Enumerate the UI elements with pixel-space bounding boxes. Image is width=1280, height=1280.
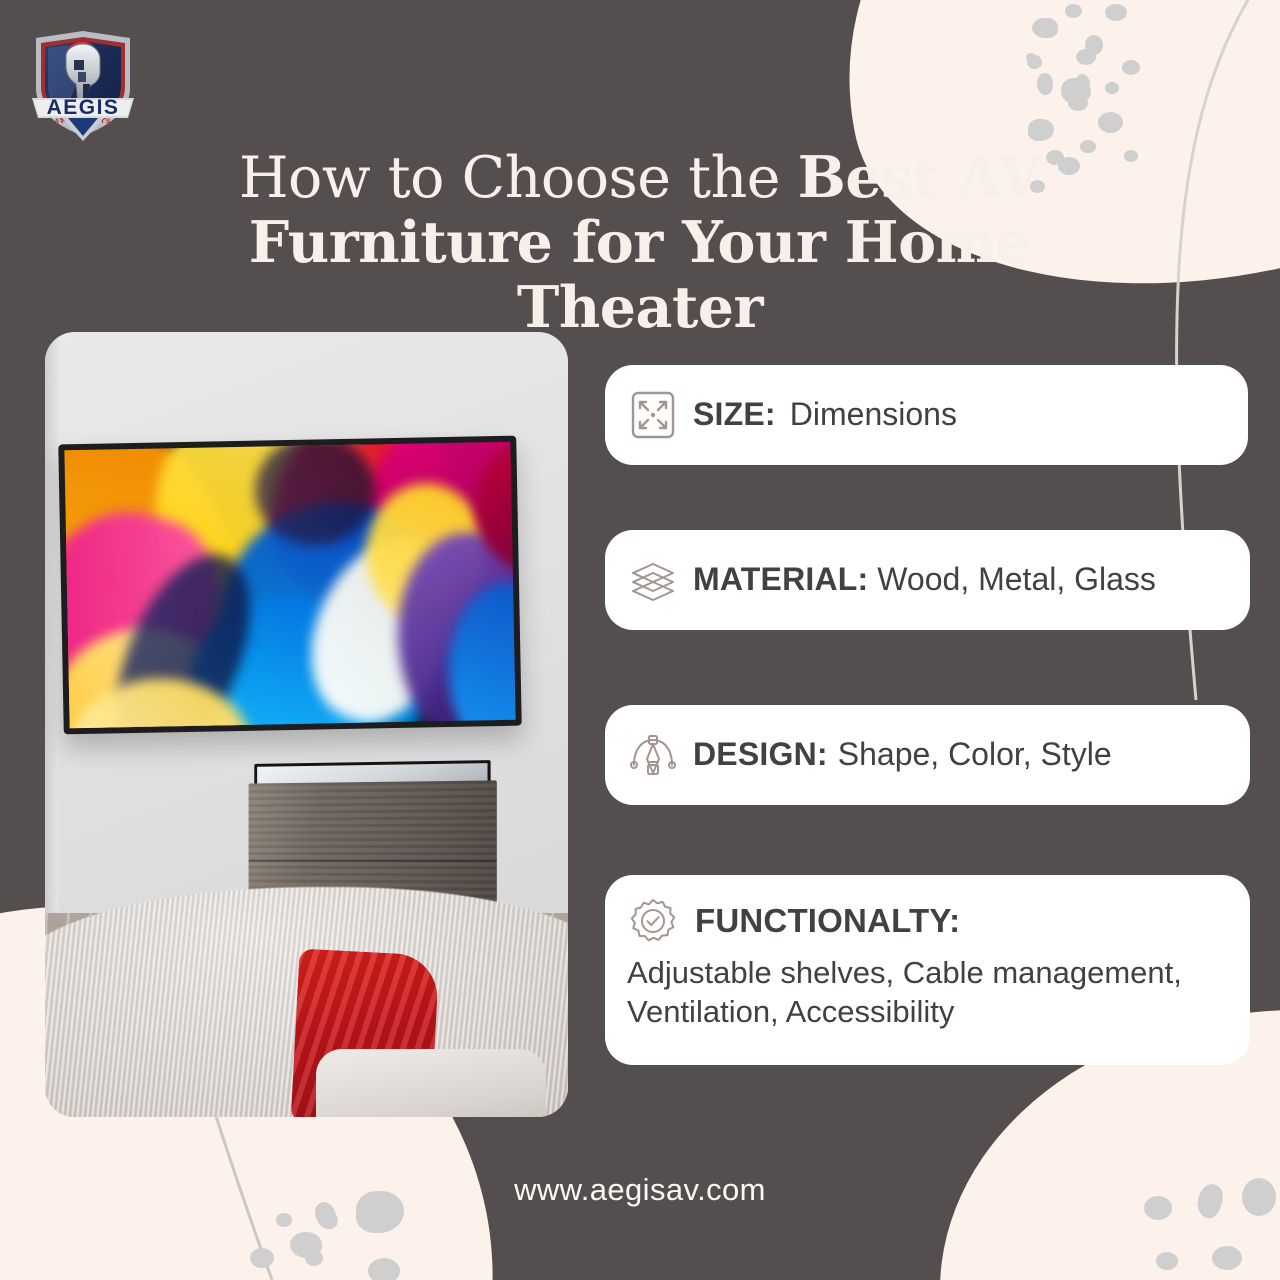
decorative-dot (368, 1258, 400, 1280)
layers-stack-icon (627, 554, 679, 606)
cabinet-drawer-seam (249, 860, 497, 862)
info-card-size[interactable]: SIZE:Dimensions (605, 365, 1248, 465)
decorative-dot (1098, 112, 1123, 133)
gear-check-icon (627, 895, 679, 947)
info-card-material-text: MATERIAL: Wood, Metal, Glass (693, 561, 1156, 599)
decorative-dot (1068, 95, 1088, 111)
decorative-dot (1077, 74, 1088, 83)
decorative-dot (290, 1232, 322, 1258)
decorative-dot (1105, 4, 1127, 21)
decorative-dot (1105, 82, 1119, 94)
info-card-material[interactable]: MATERIAL: Wood, Metal, Glass (605, 530, 1250, 630)
logo-wordmark: AEGIS (47, 96, 120, 119)
info-card-functionality-value: Adjustable shelves, Cable management, Ve… (627, 953, 1228, 1031)
decorative-dot (1032, 18, 1058, 38)
info-card-design-value: Shape, Color, Style (838, 736, 1112, 772)
decorative-dot (1212, 1246, 1242, 1270)
decorative-dot (1076, 49, 1096, 65)
wall-mounted-tv (58, 436, 521, 735)
decorative-dot (1028, 119, 1054, 141)
website-url[interactable]: www.aegisav.com (0, 1172, 1280, 1208)
shield-logo-icon: AEGIS AV CABINETS (28, 26, 138, 146)
expand-arrows-icon (627, 389, 679, 441)
home-theater-photo (45, 332, 568, 1117)
tv-screen-artwork (64, 442, 515, 729)
decorative-dot (276, 1213, 292, 1227)
info-card-material-label: MATERIAL: (693, 561, 868, 597)
decorative-dot (1026, 53, 1036, 62)
info-card-size-text: SIZE:Dimensions (693, 396, 957, 434)
grey-sofa (316, 1049, 546, 1117)
info-card-functionality[interactable]: FUNCTIONALTY: Adjustable shelves, Cable … (605, 875, 1250, 1065)
decorative-dot (1027, 56, 1042, 69)
decorative-dot (1061, 78, 1091, 104)
aegis-logo[interactable]: AEGIS AV CABINETS (28, 26, 138, 146)
decorative-dot (1078, 76, 1090, 90)
title-line-2: Furniture for Your Home Theater (150, 211, 1130, 341)
info-card-material-value: Wood, Metal, Glass (877, 561, 1156, 597)
decorative-dot (1029, 55, 1041, 65)
info-card-design[interactable]: DESIGN:Shape, Color, Style (605, 705, 1250, 805)
title-line-1: How to Choose the Best AV (150, 146, 1130, 211)
decorative-dot (1122, 60, 1140, 75)
pen-tool-icon (627, 729, 679, 781)
info-card-functionality-label: FUNCTIONALTY: (695, 902, 960, 940)
decorative-dot (250, 1248, 274, 1268)
page-title: How to Choose the Best AV Furniture for … (150, 146, 1130, 341)
decorative-dot (305, 1250, 323, 1266)
info-card-design-label: DESIGN: (693, 736, 828, 772)
info-card-design-text: DESIGN:Shape, Color, Style (693, 736, 1112, 774)
title-line-1-light: How to Choose the (239, 145, 798, 211)
title-line-1-bold: Best AV (798, 144, 1042, 211)
infographic-poster: AEGIS AV CABINETS How to Choose the Best… (0, 0, 1280, 1280)
decorative-dot (1085, 35, 1103, 55)
info-card-size-value: Dimensions (790, 396, 957, 432)
info-card-size-label: SIZE: (693, 396, 776, 432)
photo-wall-edge (45, 332, 59, 913)
decorative-dot (1037, 73, 1053, 95)
info-card-functionality-header: FUNCTIONALTY: (627, 895, 1228, 947)
decorative-dot (1156, 1252, 1178, 1270)
decorative-dot (1065, 4, 1082, 18)
